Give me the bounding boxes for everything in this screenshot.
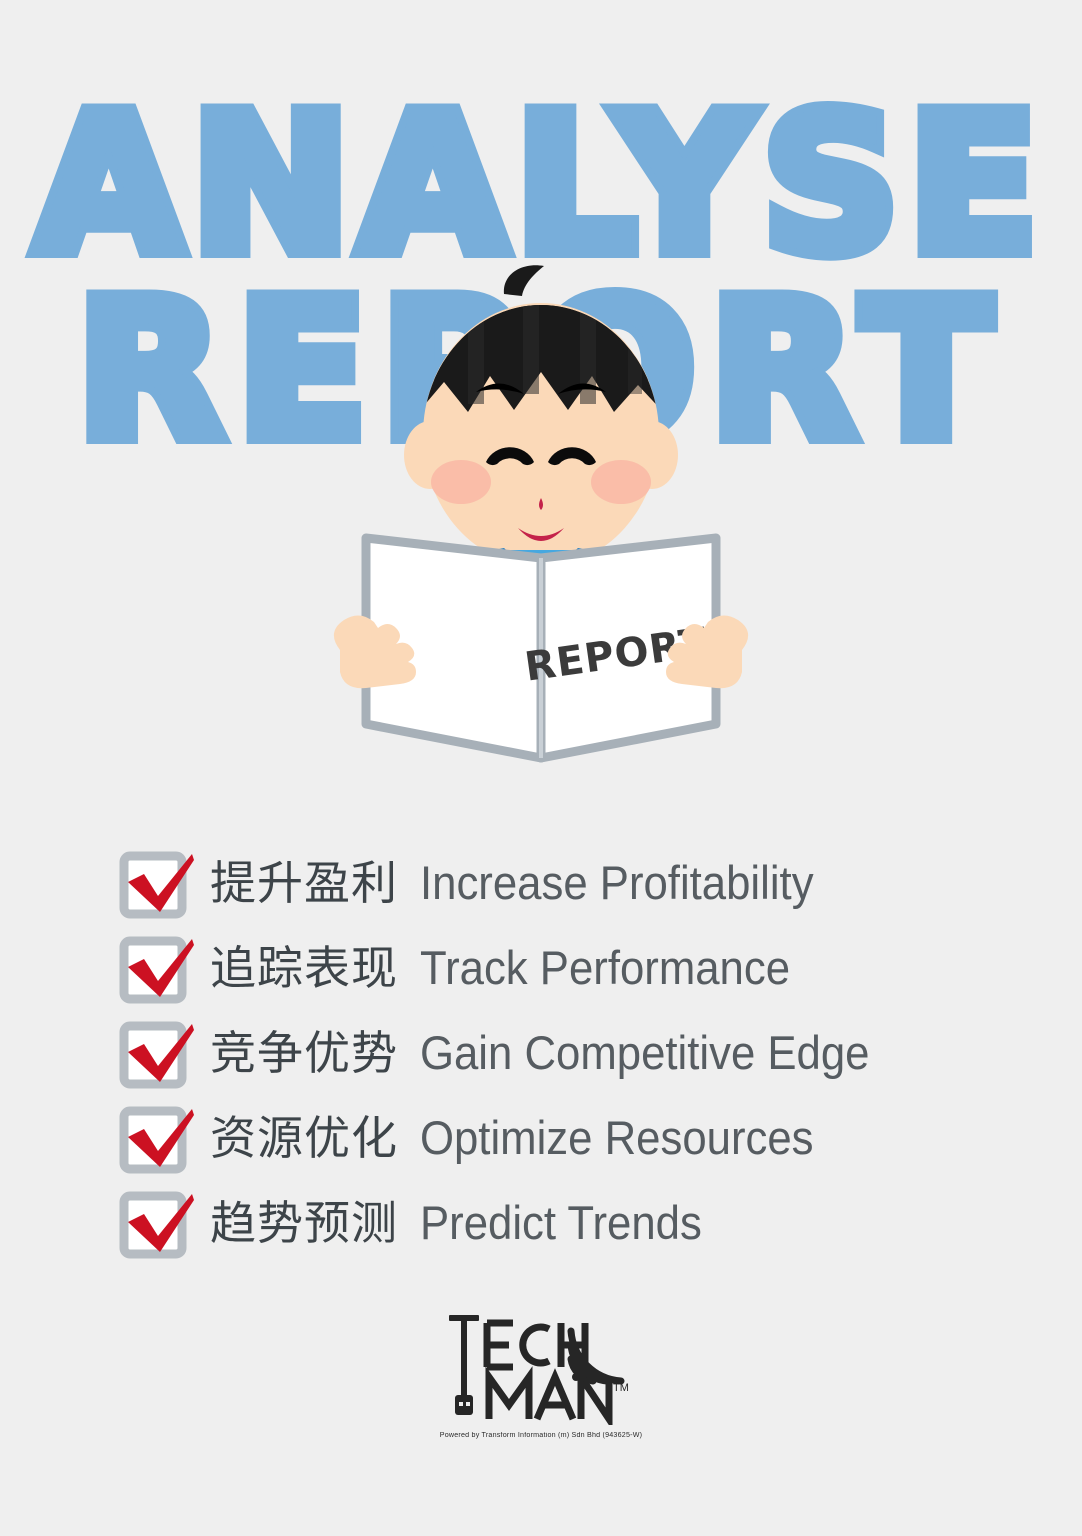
cheek-left (431, 460, 491, 504)
list-item-label-cn: 竞争优势 (210, 1030, 398, 1076)
checked-checkbox-icon[interactable] (120, 1022, 182, 1084)
techman-logo-icon: TM (441, 1305, 641, 1425)
brand-logo: TM Powered by Transform Information (m) … (0, 1305, 1082, 1439)
list-item[interactable]: 竞争优势 Gain Competitive Edge (120, 1010, 1020, 1095)
list-item[interactable]: 趋势预测 Predict Trends (120, 1180, 1020, 1265)
list-item-label-en: Gain Competitive Edge (420, 1029, 869, 1076)
list-item-label-cn: 趋势预测 (210, 1200, 398, 1246)
list-item-label-cn: 提升盈利 (210, 860, 398, 906)
list-item-label-en: Predict Trends (420, 1199, 702, 1246)
logo-tagline: Powered by Transform Information (m) Sdn… (0, 1432, 1082, 1439)
checked-checkbox-icon[interactable] (120, 852, 182, 914)
list-item[interactable]: 提升盈利 Increase Profitability (120, 840, 1020, 925)
poster-root: ANALYSE REPORT (0, 0, 1082, 1536)
list-item-label-cn: 资源优化 (210, 1115, 398, 1161)
list-item[interactable]: 追踪表现 Track Performance (120, 925, 1020, 1010)
usb-plug-icon (449, 1315, 479, 1415)
benefits-checklist: 提升盈利 Increase Profitability 追踪表现 Track P… (120, 840, 1020, 1265)
wifi-icon (571, 1331, 621, 1381)
list-item-label-en: Increase Profitability (420, 859, 814, 906)
trademark-symbol: TM (613, 1382, 629, 1394)
checked-checkbox-icon[interactable] (120, 937, 182, 999)
checked-checkbox-icon[interactable] (120, 1192, 182, 1254)
boy-reading-report-illustration: REPORT (318, 250, 764, 830)
hair-tuft (504, 265, 544, 296)
list-item-label-cn: 追踪表现 (210, 945, 398, 991)
cheek-right (591, 460, 651, 504)
open-book: REPORT (366, 538, 716, 758)
checked-checkbox-icon[interactable] (120, 1107, 182, 1169)
list-item-label-en: Track Performance (420, 944, 790, 991)
list-item-label-en: Optimize Resources (420, 1114, 814, 1161)
list-item[interactable]: 资源优化 Optimize Resources (120, 1095, 1020, 1180)
